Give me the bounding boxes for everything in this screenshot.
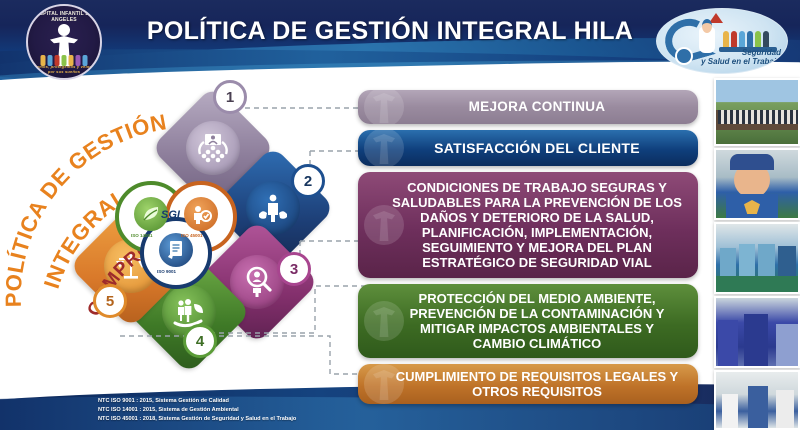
footer-standards-list: NTC ISO 9001 : 2015, Sistema Gestión de …	[98, 397, 296, 424]
document-quality-icon	[159, 233, 193, 267]
banner-mejora-continua[interactable]: MEJORA CONTINUA	[358, 90, 698, 124]
banner-satisfaccion-cliente-text: SATISFACCIÓN DEL CLIENTE	[434, 140, 640, 156]
sst-logo: Seguridad y Salud en el Trabajo	[656, 8, 788, 74]
venn-label-iso45001: ISO 45001	[181, 233, 203, 238]
banner-proteccion-ambiente[interactable]: PROTECCIÓN DEL MEDIO AMBIENTE, PREVENCIÓ…	[358, 284, 698, 358]
step-number-1[interactable]: 1	[213, 80, 247, 114]
footer-line-iso14001: NTC ISO 14001 : 2015, Sistema de Gestión…	[98, 406, 296, 415]
main-content: POLÍTICA DE GESTIÓN INTEGRAL COMPROMISO	[0, 86, 800, 386]
hospital-logo-arc-top: HOSPITAL INFANTIL LOS ANGELES	[28, 11, 100, 23]
banner-watermark-icon	[364, 130, 404, 166]
policy-banner-list: MEJORA CONTINUA SATISFACCIÓN DEL CLIENTE…	[358, 90, 698, 410]
venn-center-label: SGI	[161, 209, 180, 221]
sst-caption-line2: y Salud en el Trabajo	[701, 57, 781, 66]
footer-line-iso45001: NTC ISO 45001 : 2018, Sistema Gestión de…	[98, 415, 296, 424]
footer-line-iso9001: NTC ISO 9001 : 2015, Sistema Gestión de …	[98, 397, 296, 406]
sst-team-icon	[723, 31, 769, 47]
banner-watermark-icon	[364, 90, 404, 124]
hospital-logo-arc-bottom: Amamos, protegemos y velamos por sus sue…	[28, 64, 100, 74]
venn-label-iso9001: ISO 9001	[157, 269, 176, 274]
photo-surgery-team	[714, 222, 800, 294]
training-audience-icon	[186, 121, 240, 175]
photo-staff-group	[714, 78, 800, 146]
sst-logo-caption: Seguridad y Salud en el Trabajo	[661, 49, 788, 67]
photo-child-superman	[714, 148, 800, 220]
venn-label-iso14001: ISO 14001	[131, 233, 153, 238]
sst-caption-line1: Seguridad	[742, 48, 781, 57]
step-number-2[interactable]: 2	[291, 164, 325, 198]
photo-operating-room	[714, 296, 800, 368]
step-number-3[interactable]: 3	[277, 252, 311, 286]
photo-hallway-staff	[714, 370, 800, 430]
sgi-venn-diagram: ISO 14001 ISO 45001 ISO 9001 SGI	[115, 181, 250, 291]
banner-cumplimiento-requisitos-text: CUMPLIMIENTO DE REQUISITOS LEGALES Y OTR…	[392, 369, 682, 399]
banner-condiciones-trabajo-text: CONDICIONES DE TRABAJO SEGURAS Y SALUDAB…	[392, 180, 682, 270]
page-title: POLÍTICA DE GESTIÓN INTEGRAL HILA	[120, 0, 660, 62]
step-number-4[interactable]: 4	[183, 324, 217, 358]
banner-mejora-continua-text: MEJORA CONTINUA	[469, 99, 606, 115]
banner-condiciones-trabajo[interactable]: CONDICIONES DE TRABAJO SEGURAS Y SALUDAB…	[358, 172, 698, 278]
photo-strip	[708, 78, 800, 430]
banner-cumplimiento-requisitos[interactable]: CUMPLIMIENTO DE REQUISITOS LEGALES Y OTR…	[358, 364, 698, 404]
worker-check-icon	[184, 197, 218, 231]
hospital-logo: HOSPITAL INFANTIL LOS ANGELES Amamos, pr…	[26, 4, 102, 80]
banner-proteccion-ambiente-text: PROTECCIÓN DEL MEDIO AMBIENTE, PREVENCIÓ…	[392, 291, 682, 351]
step-number-5[interactable]: 5	[93, 284, 127, 318]
banner-satisfaccion-cliente[interactable]: SATISFACCIÓN DEL CLIENTE	[358, 130, 698, 166]
